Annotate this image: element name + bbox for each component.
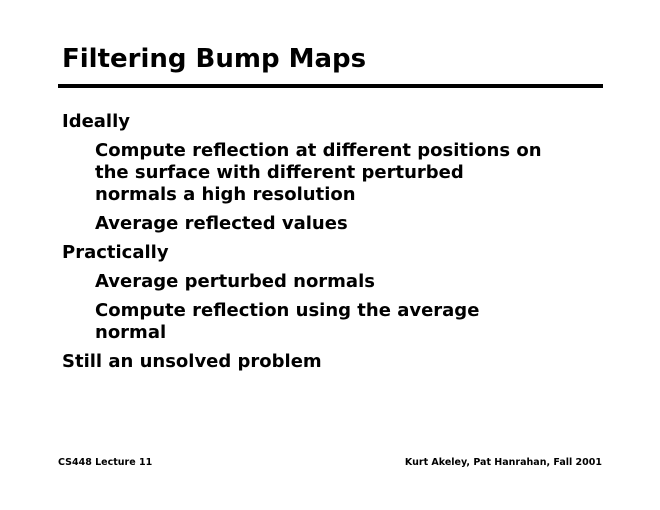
title-divider-rule [58,84,603,88]
presentation-slide: Filtering Bump Maps Ideally Compute refl… [0,0,660,510]
bullet-level-1: Ideally [62,107,580,136]
bullet-level-1: Practically [62,238,580,267]
bullet-level-2: Compute reflection using the average nor… [95,296,548,347]
bullet-level-2: Average reflected values [95,209,548,238]
footer-authors-label: Kurt Akeley, Pat Hanrahan, Fall 2001 [405,456,602,470]
slide-footer: CS448 Lecture 11 Kurt Akeley, Pat Hanrah… [58,456,602,470]
bullet-level-1: Still an unsolved problem [62,347,580,376]
bullet-level-2: Compute reflection at different position… [95,136,548,209]
bullet-level-2: Average perturbed normals [95,267,548,296]
page-title: Filtering Bump Maps [62,44,366,74]
slide-body: Ideally Compute reflection at different … [0,107,660,376]
footer-lecture-label: CS448 Lecture 11 [58,456,152,470]
